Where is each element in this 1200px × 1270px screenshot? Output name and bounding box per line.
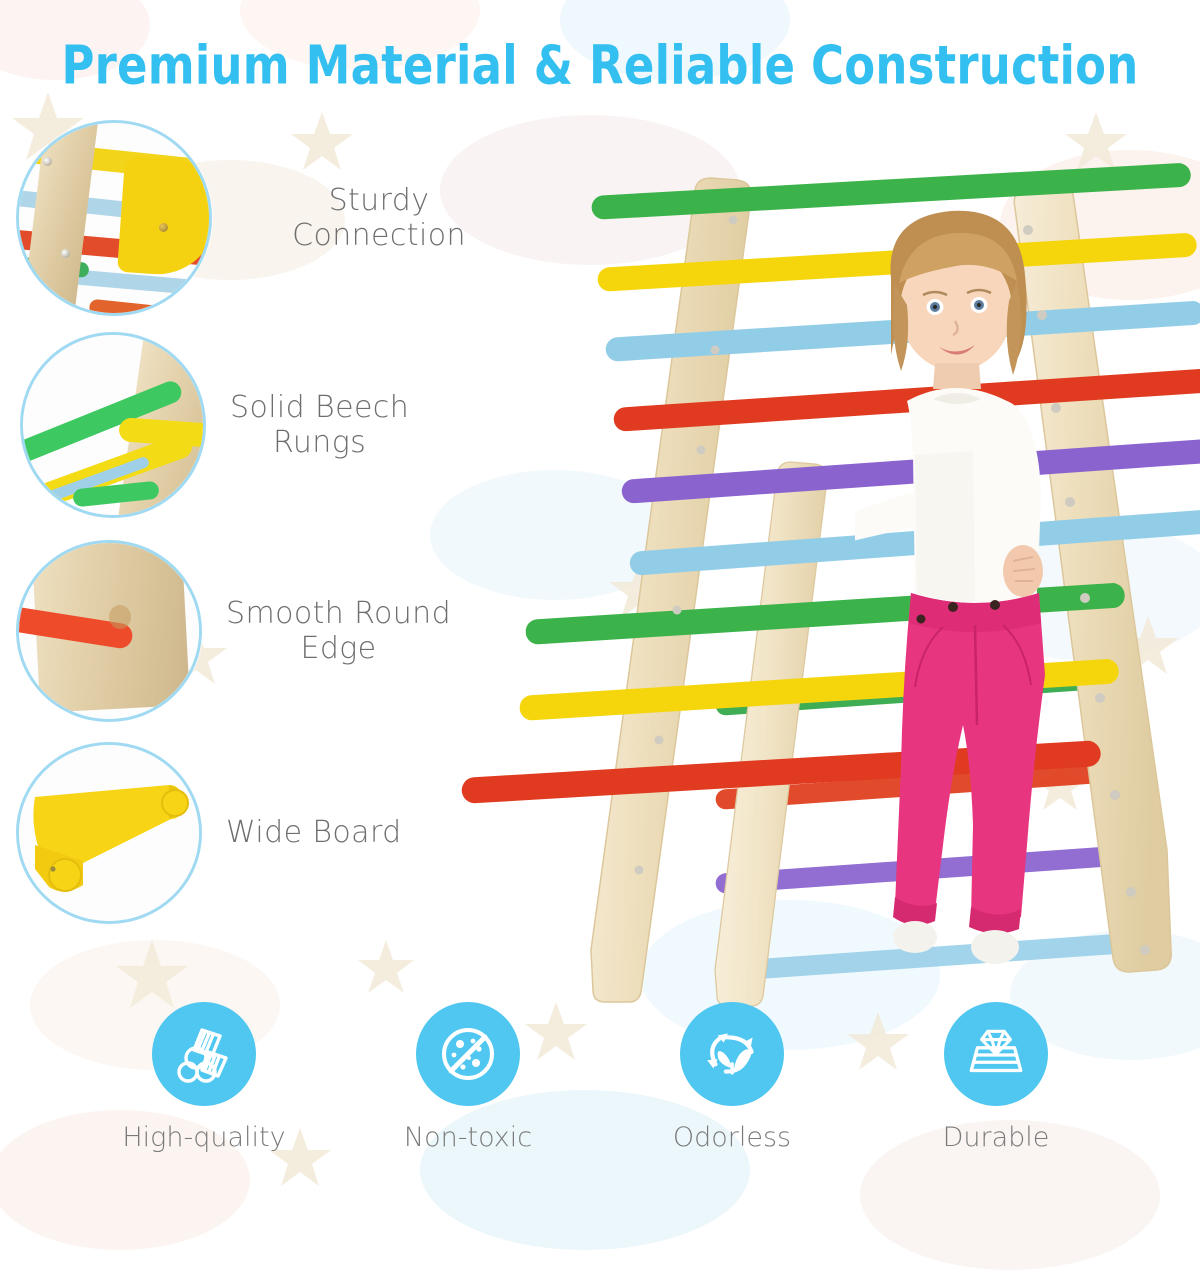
- page-title: Premium Material & Reliable Construction: [0, 34, 1200, 97]
- eco-leaf-recycle-icon: [680, 1002, 784, 1106]
- callout-label-wide-board: Wide Board: [226, 815, 402, 850]
- callout-label-line: Wide Board: [226, 815, 402, 850]
- callout-label-line: Smooth Round: [226, 596, 451, 631]
- callout-label-line: Edge: [226, 631, 451, 666]
- callout-label-solid-beech-rungs: Solid Beech Rungs: [230, 390, 409, 461]
- diamond-board-icon: [944, 1002, 1048, 1106]
- callout-photo-sturdy-connection: [16, 120, 212, 316]
- callout-smooth-round-edge[interactable]: Smooth Round Edge: [16, 540, 451, 722]
- feature-strip: High-quality Non-toxic: [0, 1002, 1200, 1182]
- feature-high-quality[interactable]: High-quality: [114, 1002, 294, 1153]
- callout-wide-board[interactable]: Wide Board: [16, 742, 402, 924]
- callout-solid-beech-rungs[interactable]: Solid Beech Rungs: [20, 332, 409, 518]
- callout-label-sturdy-connection: Sturdy Connection: [238, 183, 520, 254]
- logs-icon: [152, 1002, 256, 1106]
- feature-non-toxic[interactable]: Non-toxic: [378, 1002, 558, 1153]
- callout-photo-solid-beech-rungs: [20, 332, 206, 518]
- callout-label-line: Sturdy Connection: [238, 183, 520, 254]
- wide-board-shape: [19, 745, 202, 924]
- feature-durable[interactable]: Durable: [906, 1002, 1086, 1153]
- child-photo: [855, 205, 1105, 995]
- feature-label-odorless: Odorless: [673, 1122, 791, 1153]
- callout-photo-wide-board: [16, 742, 202, 924]
- callout-sturdy-connection[interactable]: Sturdy Connection: [16, 120, 520, 316]
- callout-label-line: Solid Beech: [230, 390, 409, 425]
- feature-odorless[interactable]: Odorless: [642, 1002, 822, 1153]
- feature-label-non-toxic: Non-toxic: [404, 1122, 532, 1153]
- feature-label-durable: Durable: [943, 1122, 1050, 1153]
- feature-label-high-quality: High-quality: [122, 1122, 285, 1153]
- callout-label-smooth-round-edge: Smooth Round Edge: [226, 596, 451, 667]
- callout-label-line: Rungs: [230, 425, 409, 460]
- child-illustration: [855, 205, 1105, 995]
- no-germs-icon: [416, 1002, 520, 1106]
- callout-photo-smooth-round-edge: [16, 540, 202, 722]
